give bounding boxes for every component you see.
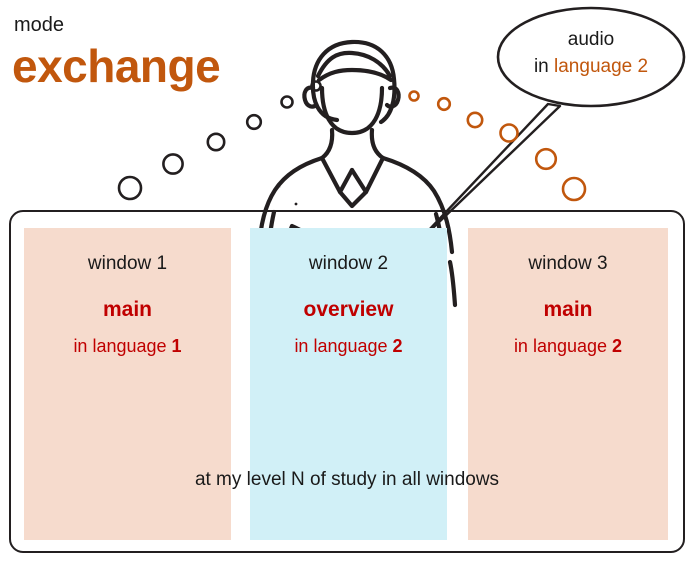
window-panel-1-title: window 1: [24, 252, 231, 276]
window-panel-3[interactable]: window 3 main in language 2: [468, 228, 668, 540]
thought-bubbles-right: [410, 92, 586, 201]
thought-bubbles-left: [119, 82, 321, 200]
speech-bubble-text: audio in language 2: [497, 26, 685, 80]
mode-title: exchange: [12, 40, 220, 92]
speech-bubble-line-2-prefix: in: [534, 56, 554, 77]
window-panel-1-language-number: 1: [172, 336, 182, 356]
stray-marks: [279, 182, 297, 205]
window-panel-1-language: in language 1: [24, 334, 231, 358]
window-panel-1[interactable]: window 1 main in language 1: [24, 228, 231, 540]
window-panel-1-content: window 1 main in language 1: [24, 252, 231, 358]
window-panel-3-language-number: 2: [612, 336, 622, 356]
window-panel-2-kind: overview: [250, 297, 447, 323]
speech-bubble-line-1: audio: [497, 26, 685, 53]
speech-bubble-line-2-accent: language 2: [554, 56, 648, 77]
window-panel-3-content: window 3 main in language 2: [468, 252, 668, 358]
window-panel-3-kind: main: [468, 297, 668, 323]
window-panel-3-language-prefix: in language: [514, 336, 612, 356]
window-panel-2-language-number: 2: [393, 336, 403, 356]
window-panel-3-language: in language 2: [468, 334, 668, 358]
window-panel-1-kind: main: [24, 297, 231, 323]
window-panel-2-content: window 2 overview in language 2: [250, 252, 447, 358]
window-panel-3-title: window 3: [468, 252, 668, 276]
mode-label: mode: [14, 14, 64, 36]
speech-bubble-line-2: in language 2: [497, 53, 685, 80]
window-panel-1-language-prefix: in language: [73, 336, 171, 356]
window-panel-2-language-prefix: in language: [294, 336, 392, 356]
diagram-canvas: mode exchange: [0, 0, 694, 564]
window-panel-2-title: window 2: [250, 252, 447, 276]
footer-note: at my level N of study in all windows: [9, 468, 685, 492]
window-panel-2[interactable]: window 2 overview in language 2: [250, 228, 447, 540]
window-panel-2-language: in language 2: [250, 334, 447, 358]
